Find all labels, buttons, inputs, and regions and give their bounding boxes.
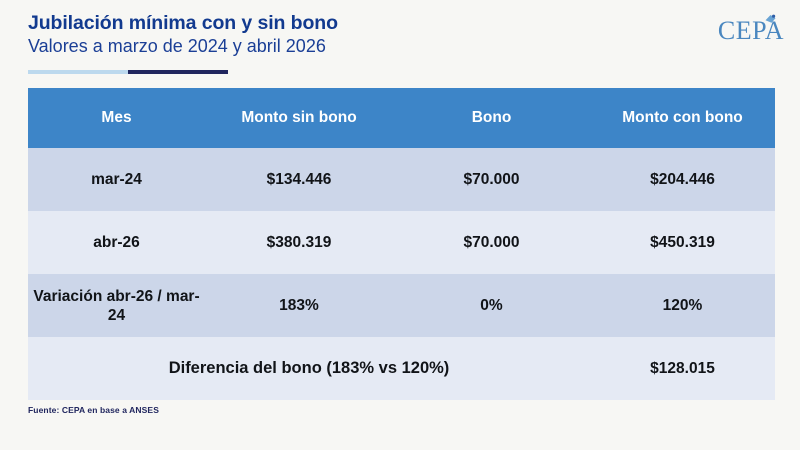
- table-header-row: Mes Monto sin bono Bono Monto con bono: [28, 88, 775, 148]
- cell-monto-con-bono-mar24: $204.446: [590, 148, 775, 211]
- table-row: mar-24 $134.446 $70.000 $204.446: [28, 148, 775, 211]
- title-underline-rule: [28, 70, 228, 74]
- table-header: Mes Monto sin bono Bono Monto con bono: [28, 88, 775, 148]
- cell-diferencia-value: $128.015: [590, 337, 775, 400]
- cell-monto-sin-bono-mar24: $134.446: [205, 148, 393, 211]
- table-body: mar-24 $134.446 $70.000 $204.446 abr-26 …: [28, 148, 775, 400]
- slide-root: Jubilación mínima con y sin bono Valores…: [0, 0, 800, 450]
- cell-monto-sin-bono-variacion: 183%: [205, 274, 393, 337]
- page-title: Jubilación mínima con y sin bono: [28, 12, 338, 34]
- page-subtitle: Valores a marzo de 2024 y abril 2026: [28, 35, 338, 57]
- table-row: abr-26 $380.319 $70.000 $450.319: [28, 211, 775, 274]
- cell-monto-con-bono-variacion: 120%: [590, 274, 775, 337]
- cell-mes-abr26: abr-26: [28, 211, 205, 274]
- cepa-logo-mark-icon: [764, 14, 777, 27]
- title-block: Jubilación mínima con y sin bono Valores…: [28, 12, 338, 57]
- column-header-mes: Mes: [28, 88, 205, 148]
- cell-monto-con-bono-abr26: $450.319: [590, 211, 775, 274]
- source-footnote: Fuente: CEPA en base a ANSES: [28, 405, 159, 415]
- column-header-bono: Bono: [393, 88, 590, 148]
- cepa-logo: CEPA: [692, 16, 784, 50]
- header: Jubilación mínima con y sin bono Valores…: [28, 12, 772, 74]
- column-header-monto-con-bono: Monto con bono: [590, 88, 775, 148]
- cell-bono-abr26: $70.000: [393, 211, 590, 274]
- pension-table: Mes Monto sin bono Bono Monto con bono m…: [28, 88, 775, 400]
- column-header-monto-sin-bono: Monto sin bono: [205, 88, 393, 148]
- table-summary-row: Diferencia del bono (183% vs 120%) $128.…: [28, 337, 775, 400]
- cell-mes-mar24: mar-24: [28, 148, 205, 211]
- cell-mes-variacion: Variación abr-26 / mar-24: [28, 274, 205, 337]
- rule-segment-light: [28, 70, 128, 74]
- cell-bono-variacion: 0%: [393, 274, 590, 337]
- cell-bono-mar24: $70.000: [393, 148, 590, 211]
- cell-monto-sin-bono-abr26: $380.319: [205, 211, 393, 274]
- cell-diferencia-label: Diferencia del bono (183% vs 120%): [28, 337, 590, 400]
- table-row: Variación abr-26 / mar-24 183% 0% 120%: [28, 274, 775, 337]
- rule-segment-dark: [128, 70, 228, 74]
